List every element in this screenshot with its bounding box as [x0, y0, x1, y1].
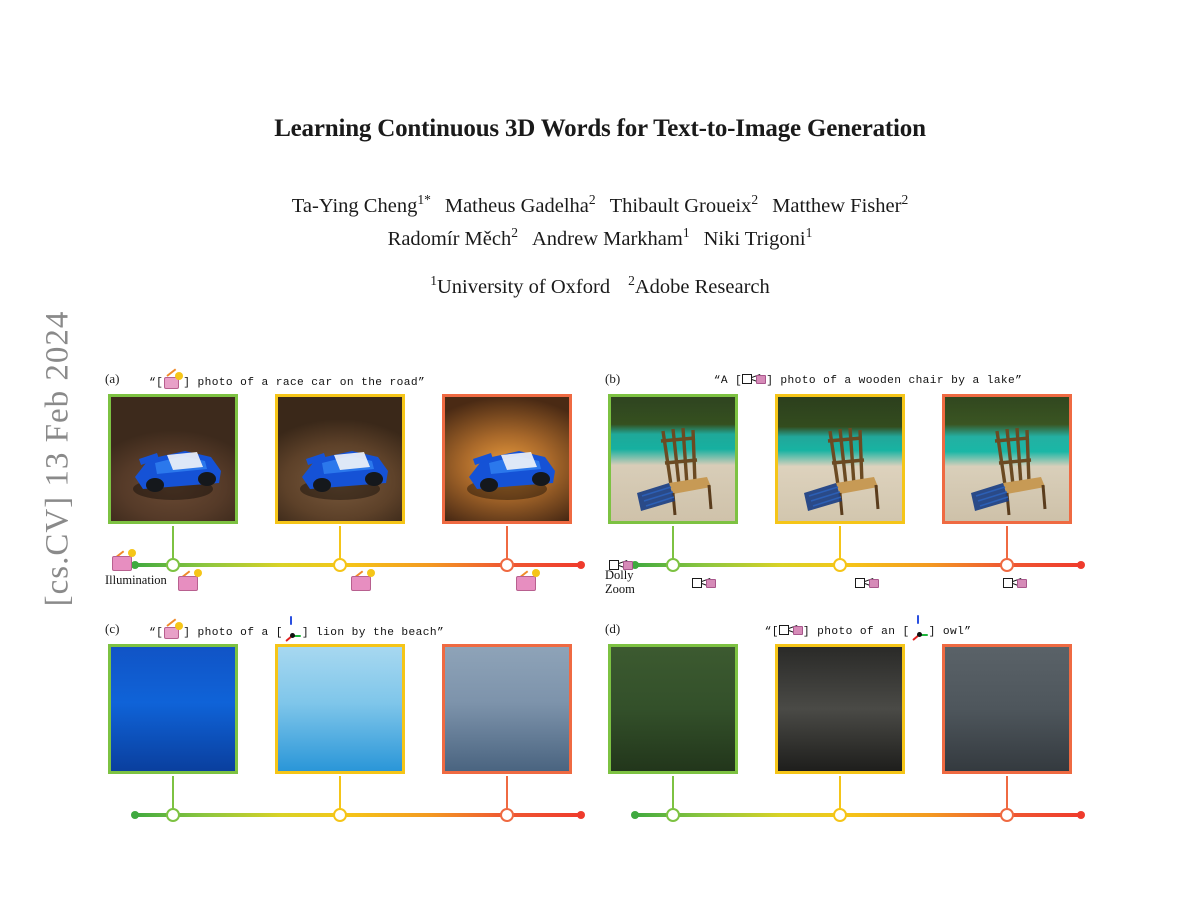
teaser-figure: (a)“[] photo of a race car on the road”I…: [0, 368, 1200, 658]
generated-image-thumbnail[interactable]: [275, 644, 405, 774]
affiliation: 2Adobe Research: [628, 276, 770, 298]
slider-knob[interactable]: [166, 558, 180, 572]
connector-line: [672, 526, 675, 562]
figure-panel-d: (d)“[] photo of an [] owl”: [605, 618, 1087, 908]
generated-image-thumbnail[interactable]: [275, 394, 405, 524]
slider-knob[interactable]: [666, 558, 680, 572]
attribute-axis-label-line2: Zoom: [605, 582, 635, 596]
dolly-zoom-icon: [742, 372, 766, 385]
slider-state-icon: [855, 574, 879, 592]
prompt-text-pre: “[: [149, 377, 163, 389]
prompt-text-pre: “[: [149, 627, 163, 639]
connector-line: [339, 776, 342, 812]
slider-knob[interactable]: [666, 808, 680, 822]
dolly-zoom-icon: [1003, 576, 1027, 589]
figure-panel-a: (a)“[] photo of a race car on the road”I…: [105, 368, 587, 658]
generated-image-thumbnail[interactable]: [942, 394, 1072, 524]
prompt-text-mid: ] photo of a [: [183, 627, 283, 639]
connector-line: [1006, 776, 1009, 812]
attribute-axis-label-line1: Illumination: [105, 573, 167, 587]
dolly-zoom-icon: [779, 623, 803, 636]
panel-tag: (c): [105, 621, 119, 637]
connector-line: [172, 526, 175, 562]
author-line-2: Radomír Měch2Andrew Markham1Niki Trigoni…: [0, 223, 1200, 256]
connector-line: [839, 776, 842, 812]
slider-knob[interactable]: [500, 808, 514, 822]
illumination-icon: [177, 574, 197, 591]
prompt-caption: “[] photo of a race car on the road”: [149, 372, 587, 389]
slider-knob[interactable]: [833, 558, 847, 572]
panel-tag: (a): [105, 371, 119, 387]
panel-tag: (d): [605, 621, 620, 637]
illumination-icon: [515, 574, 535, 591]
connector-line: [672, 776, 675, 812]
author: Ta-Ying Cheng1*: [292, 195, 431, 217]
slider-knob[interactable]: [166, 808, 180, 822]
illumination-icon: [163, 372, 183, 389]
slider-state-icon: [515, 574, 535, 592]
slider-state-icon: [1003, 574, 1027, 592]
author: Matheus Gadelha2: [445, 195, 596, 217]
generated-image-thumbnail[interactable]: [442, 644, 572, 774]
slider-origin-icon: [609, 556, 633, 574]
affiliation: 1University of Oxford: [430, 276, 610, 298]
slider-track-end-cap: [1077, 811, 1085, 819]
dolly-zoom-icon: [855, 576, 879, 589]
image-row: [605, 394, 1087, 528]
connector-line: [1006, 526, 1009, 562]
slider-knob[interactable]: [500, 558, 514, 572]
figure-panel-c: (c)“[] photo of a [] lion by the beach”: [105, 618, 587, 908]
author-list: Ta-Ying Cheng1*Matheus Gadelha2Thibault …: [0, 190, 1200, 256]
axes-gizmo-icon: [910, 622, 929, 639]
slider-track-end-cap: [1077, 561, 1085, 569]
prompt-text-post: ] lion by the beach”: [302, 627, 444, 639]
dolly-zoom-icon: [692, 576, 716, 589]
author: Matthew Fisher2: [772, 195, 908, 217]
affiliation-list: 1University of Oxford2Adobe Research: [0, 276, 1200, 299]
page-title: Learning Continuous 3D Words for Text-to…: [0, 115, 1200, 143]
figure-panel-b: (b)“A [] photo of a wooden chair by a la…: [605, 368, 1087, 658]
slider-state-icon: [350, 574, 370, 592]
slider-track-start-cap: [131, 811, 139, 819]
author: Radomír Měch2: [388, 228, 518, 250]
slider-knob[interactable]: [333, 808, 347, 822]
slider-track-start-cap: [631, 811, 639, 819]
prompt-caption: “A [] photo of a wooden chair by a lake”: [649, 372, 1087, 387]
slider-state-icon: [177, 574, 197, 592]
generated-image-thumbnail[interactable]: [942, 644, 1072, 774]
image-canvas: [945, 647, 1069, 771]
axes-gizmo-icon: [283, 623, 302, 640]
attribute-slider[interactable]: [105, 558, 587, 572]
image-canvas: [611, 647, 735, 771]
generated-image-thumbnail[interactable]: [442, 394, 572, 524]
prompt-text-post: ] owl”: [929, 626, 972, 638]
attribute-slider[interactable]: [105, 808, 587, 822]
slider-origin-icon: [111, 554, 131, 572]
generated-image-thumbnail[interactable]: [775, 644, 905, 774]
generated-image-thumbnail[interactable]: [775, 394, 905, 524]
illumination-icon: [163, 622, 183, 639]
slider-knob[interactable]: [1000, 558, 1014, 572]
connector-line: [172, 776, 175, 812]
image-row: [605, 644, 1087, 778]
prompt-text-mid: ] photo of an [: [803, 626, 910, 638]
author: Niki Trigoni1: [704, 228, 813, 250]
slider-knob[interactable]: [833, 808, 847, 822]
image-canvas: [111, 647, 235, 771]
author-line-1: Ta-Ying Cheng1*Matheus Gadelha2Thibault …: [0, 190, 1200, 223]
illumination-icon: [111, 554, 131, 571]
prompt-caption: “[] photo of an [] owl”: [649, 622, 1087, 639]
attribute-slider[interactable]: [605, 558, 1087, 572]
generated-image-thumbnail[interactable]: [608, 644, 738, 774]
prompt-text-post: ] photo of a race car on the road”: [183, 377, 425, 389]
prompt-text-pre: “[: [765, 626, 779, 638]
image-canvas: [278, 647, 402, 771]
attribute-slider[interactable]: [605, 808, 1087, 822]
prompt-text-pre: “A [: [714, 375, 742, 387]
image-row: [105, 644, 587, 778]
dolly-zoom-icon: [609, 558, 633, 571]
generated-image-thumbnail[interactable]: [108, 394, 238, 524]
panel-tag: (b): [605, 371, 620, 387]
author: Andrew Markham1: [532, 228, 690, 250]
slider-track-end-cap: [577, 811, 585, 819]
connector-line: [506, 776, 509, 812]
generated-image-thumbnail[interactable]: [108, 644, 238, 774]
image-row: [105, 394, 587, 528]
slider-track-end-cap: [577, 561, 585, 569]
image-canvas: [445, 647, 569, 771]
prompt-text-post: ] photo of a wooden chair by a lake”: [766, 375, 1022, 387]
illumination-icon: [350, 574, 370, 591]
attribute-axis-label: Illumination: [105, 573, 167, 587]
connector-line: [339, 526, 342, 562]
author: Thibault Groueix2: [610, 195, 759, 217]
slider-state-icon: [692, 574, 716, 592]
connector-line: [839, 526, 842, 562]
slider-track-start-cap: [131, 561, 139, 569]
slider-knob[interactable]: [1000, 808, 1014, 822]
image-canvas: [778, 647, 902, 771]
generated-image-thumbnail[interactable]: [608, 394, 738, 524]
prompt-caption: “[] photo of a [] lion by the beach”: [149, 622, 587, 640]
slider-knob[interactable]: [333, 558, 347, 572]
connector-line: [506, 526, 509, 562]
